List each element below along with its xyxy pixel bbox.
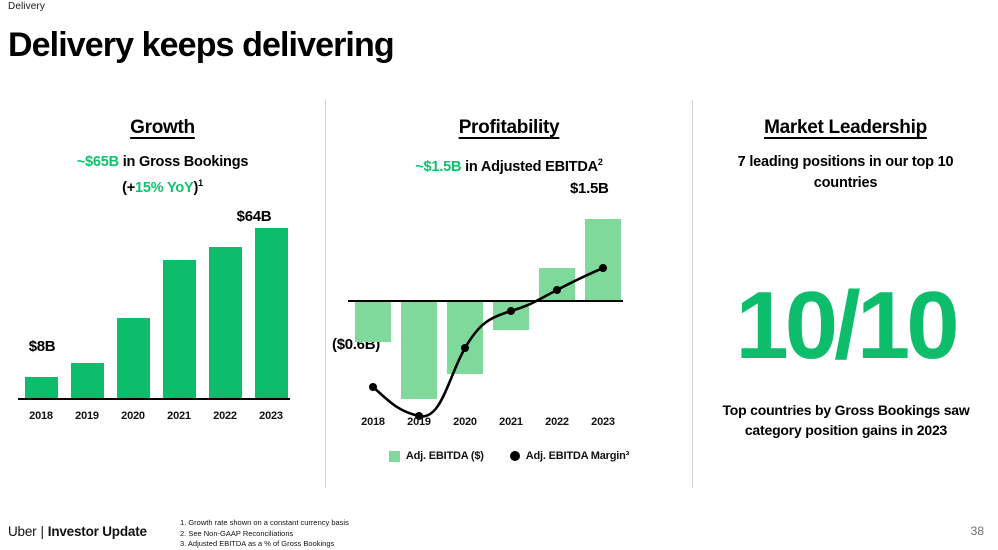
growth-data-label-2023: $64B [224, 208, 284, 225]
growth-xtick-2018: 2018 [18, 410, 64, 422]
profitability-xtick-2021: 2021 [487, 416, 535, 428]
margin-point-2023 [599, 264, 607, 272]
square-swatch-icon [389, 451, 400, 462]
growth-xtick-2023: 2023 [248, 410, 294, 422]
page-title: Delivery keeps delivering [8, 24, 394, 66]
growth-bar-2018 [25, 377, 58, 398]
growth-xtick-2019: 2019 [64, 410, 110, 422]
footnote-3: 3. Adjusted EBITDA as a % of Gross Booki… [180, 539, 349, 550]
slide-eyebrow: Delivery [8, 0, 45, 14]
dot-marker-icon [510, 451, 520, 461]
profitability-footnote-marker: 2 [598, 157, 603, 167]
profitability-xtick-2023: 2023 [579, 416, 627, 428]
panel-growth-title: Growth [0, 117, 325, 139]
market-caption: Top countries by Gross Bookings saw cate… [715, 400, 977, 440]
panel-market-title: Market Leadership [693, 117, 998, 139]
profitability-highlight-value: ~$1.5B [415, 159, 461, 175]
panels-container: Growth ~$65B in Gross Bookings (+15% YoY… [0, 100, 998, 490]
footer-brand-investor-update: Investor Update [48, 524, 147, 539]
growth-footnote-marker: 1 [198, 178, 203, 188]
profitability-xtick-2019: 2019 [395, 416, 443, 428]
growth-bar-chart: $8B $64B 2018 2019 2020 2021 2022 2023 [18, 212, 290, 422]
panel-growth: Growth ~$65B in Gross Bookings (+15% YoY… [0, 100, 325, 488]
legend-label-adj-ebitda: Adj. EBITDA ($) [406, 450, 484, 462]
margin-point-2021 [507, 307, 515, 315]
growth-bar-2023 [255, 228, 288, 398]
profitability-xtick-2022: 2022 [533, 416, 581, 428]
legend-item-adj-ebitda-margin: Adj. EBITDA Margin³ [510, 450, 629, 462]
panel-profitability-subtitle: ~$1.5B in Adjusted EBITDA2 [326, 152, 692, 178]
profitability-xtick-2018: 2018 [349, 416, 397, 428]
panel-growth-subtitle: ~$65B in Gross Bookings (+15% YoY)1 [0, 152, 325, 199]
growth-subtitle-rest: in Gross Bookings [119, 154, 248, 170]
growth-bar-2022 [209, 247, 242, 398]
legend-item-adj-ebitda: Adj. EBITDA ($) [389, 450, 484, 462]
growth-bar-2021 [163, 260, 196, 398]
footnotes: 1. Growth rate shown on a constant curre… [180, 518, 349, 550]
footer-brand: Uber|Investor Update [8, 524, 147, 539]
panel-market-subtitle: 7 leading positions in our top 10 countr… [693, 152, 998, 194]
growth-axis-line [18, 398, 290, 400]
panel-market-leadership: Market Leadership 7 leading positions in… [693, 100, 998, 488]
growth-data-label-2018: $8B [12, 338, 72, 355]
profitability-xtick-2020: 2020 [441, 416, 489, 428]
margin-point-2018 [369, 383, 377, 391]
profitability-legend: Adj. EBITDA ($) Adj. EBITDA Margin³ [326, 450, 692, 462]
growth-highlight-value: ~$65B [77, 154, 119, 170]
profitability-margin-line-svg [338, 188, 678, 438]
margin-line-path [373, 268, 603, 416]
profitability-chart: ($0.6B) $1.5B 2018 2019 [338, 188, 678, 438]
legend-label-adj-ebitda-margin: Adj. EBITDA Margin³ [526, 450, 629, 462]
growth-yoy-open: (+ [122, 180, 135, 196]
growth-yoy-value: 15% YoY [135, 180, 194, 196]
growth-xtick-2021: 2021 [156, 410, 202, 422]
growth-bar-2020 [117, 318, 150, 398]
profitability-subtitle-rest: in Adjusted EBITDA [461, 159, 598, 175]
page-number: 38 [971, 524, 984, 538]
market-big-stat: 10/10 [693, 278, 998, 374]
margin-point-2020 [461, 344, 469, 352]
margin-point-2022 [553, 286, 561, 294]
growth-xtick-2022: 2022 [202, 410, 248, 422]
growth-xtick-2020: 2020 [110, 410, 156, 422]
panel-profitability-title: Profitability [326, 117, 692, 139]
footnote-2: 2. See Non-GAAP Reconciliations [180, 529, 349, 540]
panel-profitability: Profitability ~$1.5B in Adjusted EBITDA2… [326, 100, 692, 488]
growth-bar-2019 [71, 363, 104, 398]
footer-brand-separator: | [36, 524, 47, 539]
footnote-1: 1. Growth rate shown on a constant curre… [180, 518, 349, 529]
footer-brand-uber: Uber [8, 524, 36, 539]
